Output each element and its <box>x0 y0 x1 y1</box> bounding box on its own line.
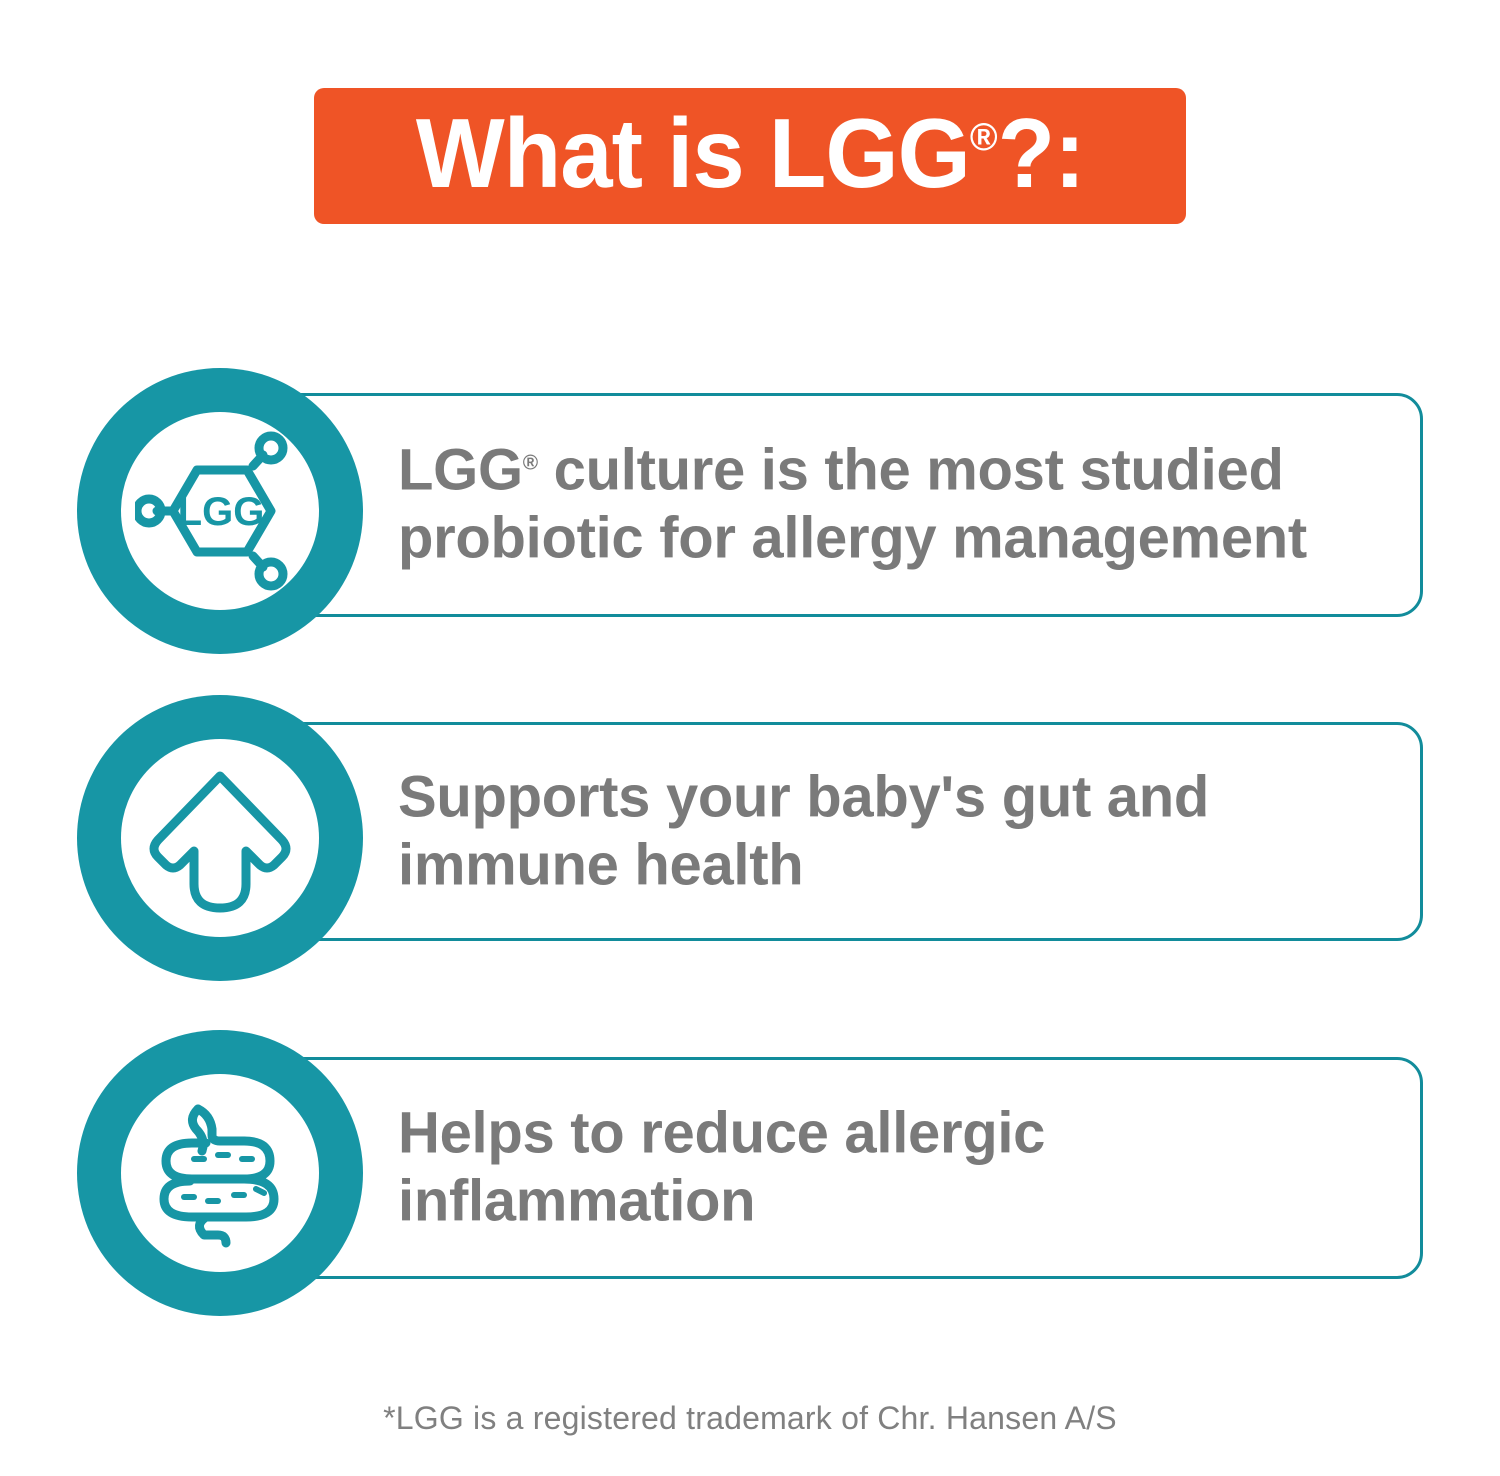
page-title-suffix: ?: <box>997 98 1084 208</box>
page-title: What is LGG®?: <box>416 104 1085 202</box>
benefit-icon-ring <box>77 1030 363 1316</box>
benefit-text-part-1: LGG <box>398 438 523 503</box>
benefit-row-gut-immune-health: Supports your baby's gut and immune heal… <box>0 695 1500 973</box>
benefit-text-part-1: Supports your baby's gut and immune heal… <box>398 764 1209 897</box>
intestine-icon <box>121 1074 319 1272</box>
title-banner: What is LGG®?: <box>314 88 1186 224</box>
page-title-main: What is LGG <box>416 98 970 208</box>
benefit-icon-ring <box>77 695 363 981</box>
benefit-text: Supports your baby's gut and immune heal… <box>398 763 1380 900</box>
benefit-card: Helps to reduce allergic inflammation <box>220 1057 1423 1279</box>
benefit-row-lgg-most-studied: LGG® culture is the most studied probiot… <box>0 368 1500 646</box>
footnote-trademark-notice: *LGG is a registered trademark of Chr. H… <box>0 1400 1500 1437</box>
lgg-molecule-icon: LGG <box>121 412 319 610</box>
benefit-card: Supports your baby's gut and immune heal… <box>220 722 1423 941</box>
benefit-text: LGG® culture is the most studied probiot… <box>398 437 1380 574</box>
benefit-card: LGG® culture is the most studied probiot… <box>220 393 1423 617</box>
benefit-row-reduce-allergic-inflammation: Helps to reduce allergic inflammation <box>0 1030 1500 1310</box>
registered-trademark-symbol: ® <box>523 452 538 475</box>
benefit-icon-ring: LGG <box>77 368 363 654</box>
registered-trademark-symbol: ® <box>970 116 998 159</box>
svg-text:LGG: LGG <box>178 490 265 534</box>
benefit-text: Helps to reduce allergic inflammation <box>398 1100 1380 1237</box>
benefit-text-part-1: Helps to reduce allergic inflammation <box>398 1101 1045 1234</box>
up-arrow-icon <box>121 739 319 937</box>
